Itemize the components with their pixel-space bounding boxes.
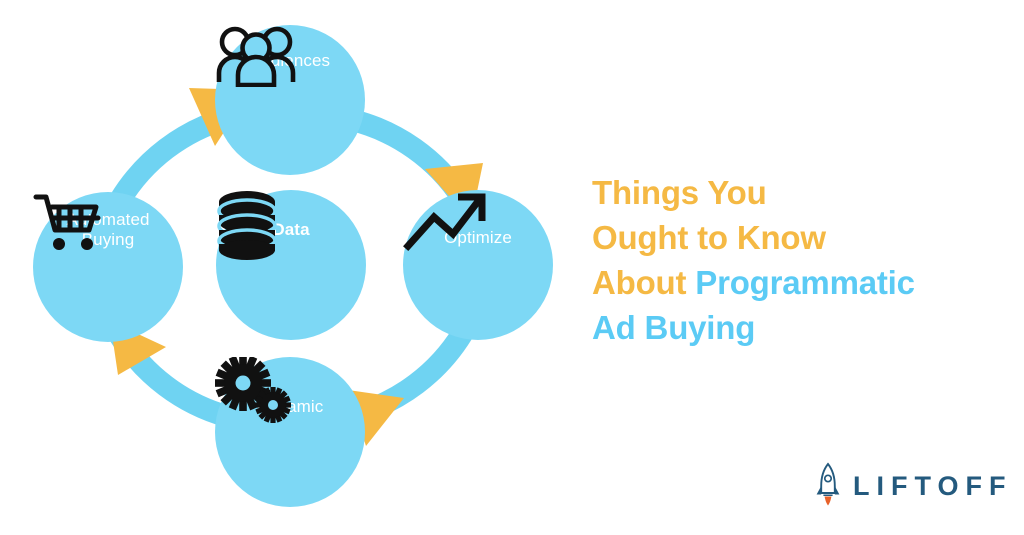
liftoff-wordmark: LIFTOFF	[853, 471, 1012, 502]
node-data[interactable]: Data	[216, 190, 366, 340]
headline-line-1: Things You	[592, 170, 1012, 215]
node-dynamic[interactable]: Dynamic	[215, 357, 365, 507]
node-audiences[interactable]: Audiences	[215, 25, 365, 175]
rocket-icon	[815, 462, 841, 511]
node-automated-buying[interactable]: Automated Buying	[33, 192, 183, 342]
headline-line-3: About Programmatic	[592, 260, 1012, 305]
cycle-diagram: Audiences Automated Buying	[0, 0, 580, 535]
headline-line-3-accent: About	[592, 264, 695, 301]
headline: Things You Ought to Know About Programma…	[592, 170, 1012, 350]
infographic-canvas: Audiences Automated Buying	[0, 0, 1024, 535]
headline-line-3-brand: Programmatic	[695, 264, 915, 301]
node-optimize[interactable]: Optimize	[403, 190, 553, 340]
liftoff-logo[interactable]: LIFTOFF	[815, 462, 1012, 511]
headline-line-2: Ought to Know	[592, 215, 1012, 260]
headline-line-4: Ad Buying	[592, 305, 1012, 350]
